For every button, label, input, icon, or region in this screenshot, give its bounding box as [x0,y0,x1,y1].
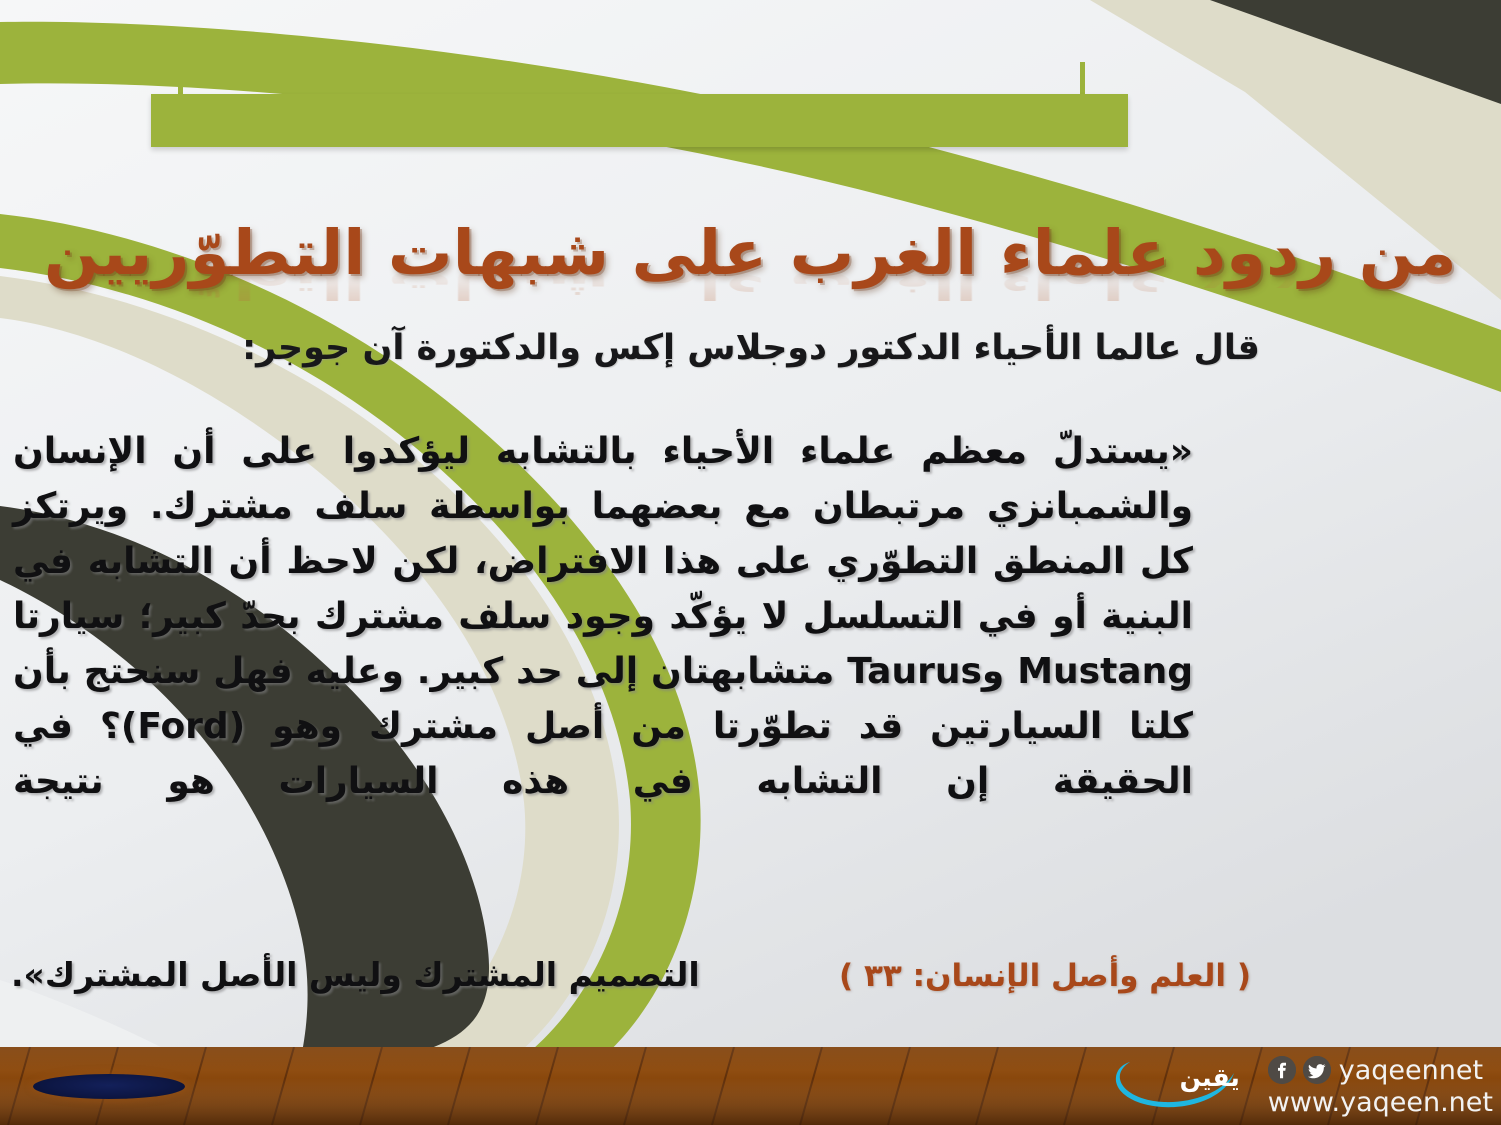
top-right-dark-band [1180,0,1501,118]
footer-branding: يقين [1106,1051,1493,1121]
hanging-banner-bar [151,94,1128,147]
quote-body: «يستدلّ معظم علماء الأحياء بالتشابه ليؤك… [13,424,1193,809]
floor-hole [33,1074,185,1099]
quote-credit-line: ( العلم وأصل الإنسان: ٣٣ ) التصميم المشت… [11,955,1251,994]
brand-handle-row: yaqeennet [1268,1055,1493,1086]
source-citation: ( العلم وأصل الإنسان: ٣٣ ) [839,958,1251,994]
quote-last-line: التصميم المشترك وليس الأصل المشترك». [11,955,700,994]
intro-attribution: قال عالما الأحياء الدكتور دوجلاس إكس وال… [56,328,1446,368]
twitter-icon[interactable] [1303,1056,1331,1084]
brand-url: www.yaqeen.net [1268,1087,1493,1118]
logo-wordmark: يقين [1180,1063,1240,1092]
yaqeen-logo: يقين [1106,1057,1256,1115]
quote-paragraph: «يستدلّ معظم علماء الأحياء بالتشابه ليؤك… [13,424,1193,809]
brand-handle: yaqeennet [1339,1055,1483,1086]
brand-text-rows: yaqeennet www.yaqeen.net [1268,1055,1493,1118]
slide-title: من ردود علماء الغرب على شبهات التطوّريين [44,220,1457,285]
banner-wire-left [178,40,183,98]
presentation-slide: من ردود علماء الغرب على شبهات التطوّريين… [0,0,1501,1125]
facebook-icon[interactable] [1268,1056,1296,1084]
slide-title-wrap: من ردود علماء الغرب على شبهات التطوّريين [0,178,1501,326]
banner-wire-right [1080,62,1085,98]
social-icons [1268,1056,1331,1084]
